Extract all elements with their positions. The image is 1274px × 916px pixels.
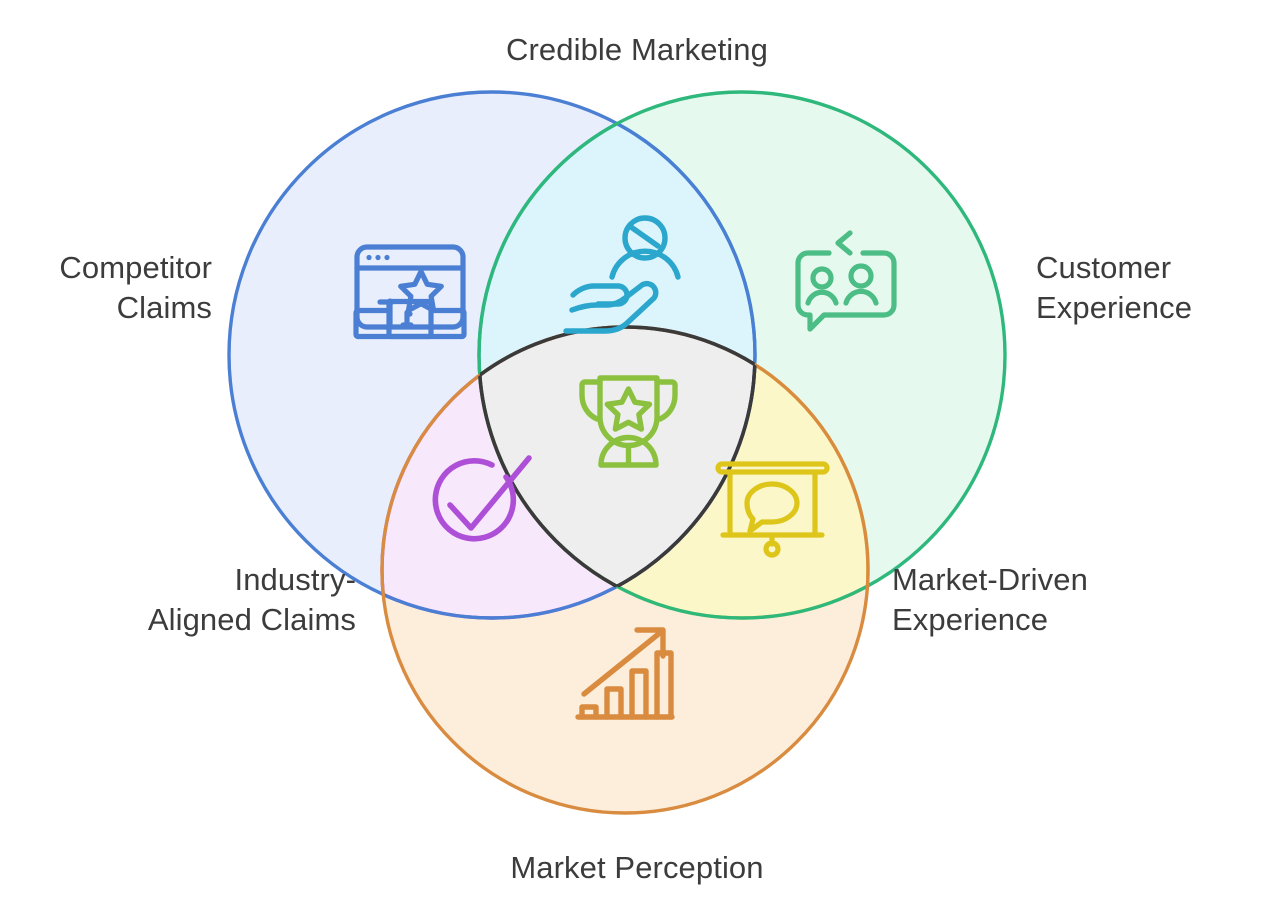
venn-diagram: Credible Marketing Competitor Claims Cus… [0,0,1274,916]
label-industry-aligned-claims: Industry- Aligned Claims [40,560,356,641]
label-credible-marketing: Credible Marketing [0,30,1274,70]
label-customer-experience: Customer Experience [1036,248,1274,329]
venn-svg-canvas [0,0,1274,916]
label-market-perception: Market Perception [0,848,1274,888]
label-competitor-claims: Competitor Claims [0,248,212,329]
label-market-driven-experience: Market-Driven Experience [892,560,1222,641]
